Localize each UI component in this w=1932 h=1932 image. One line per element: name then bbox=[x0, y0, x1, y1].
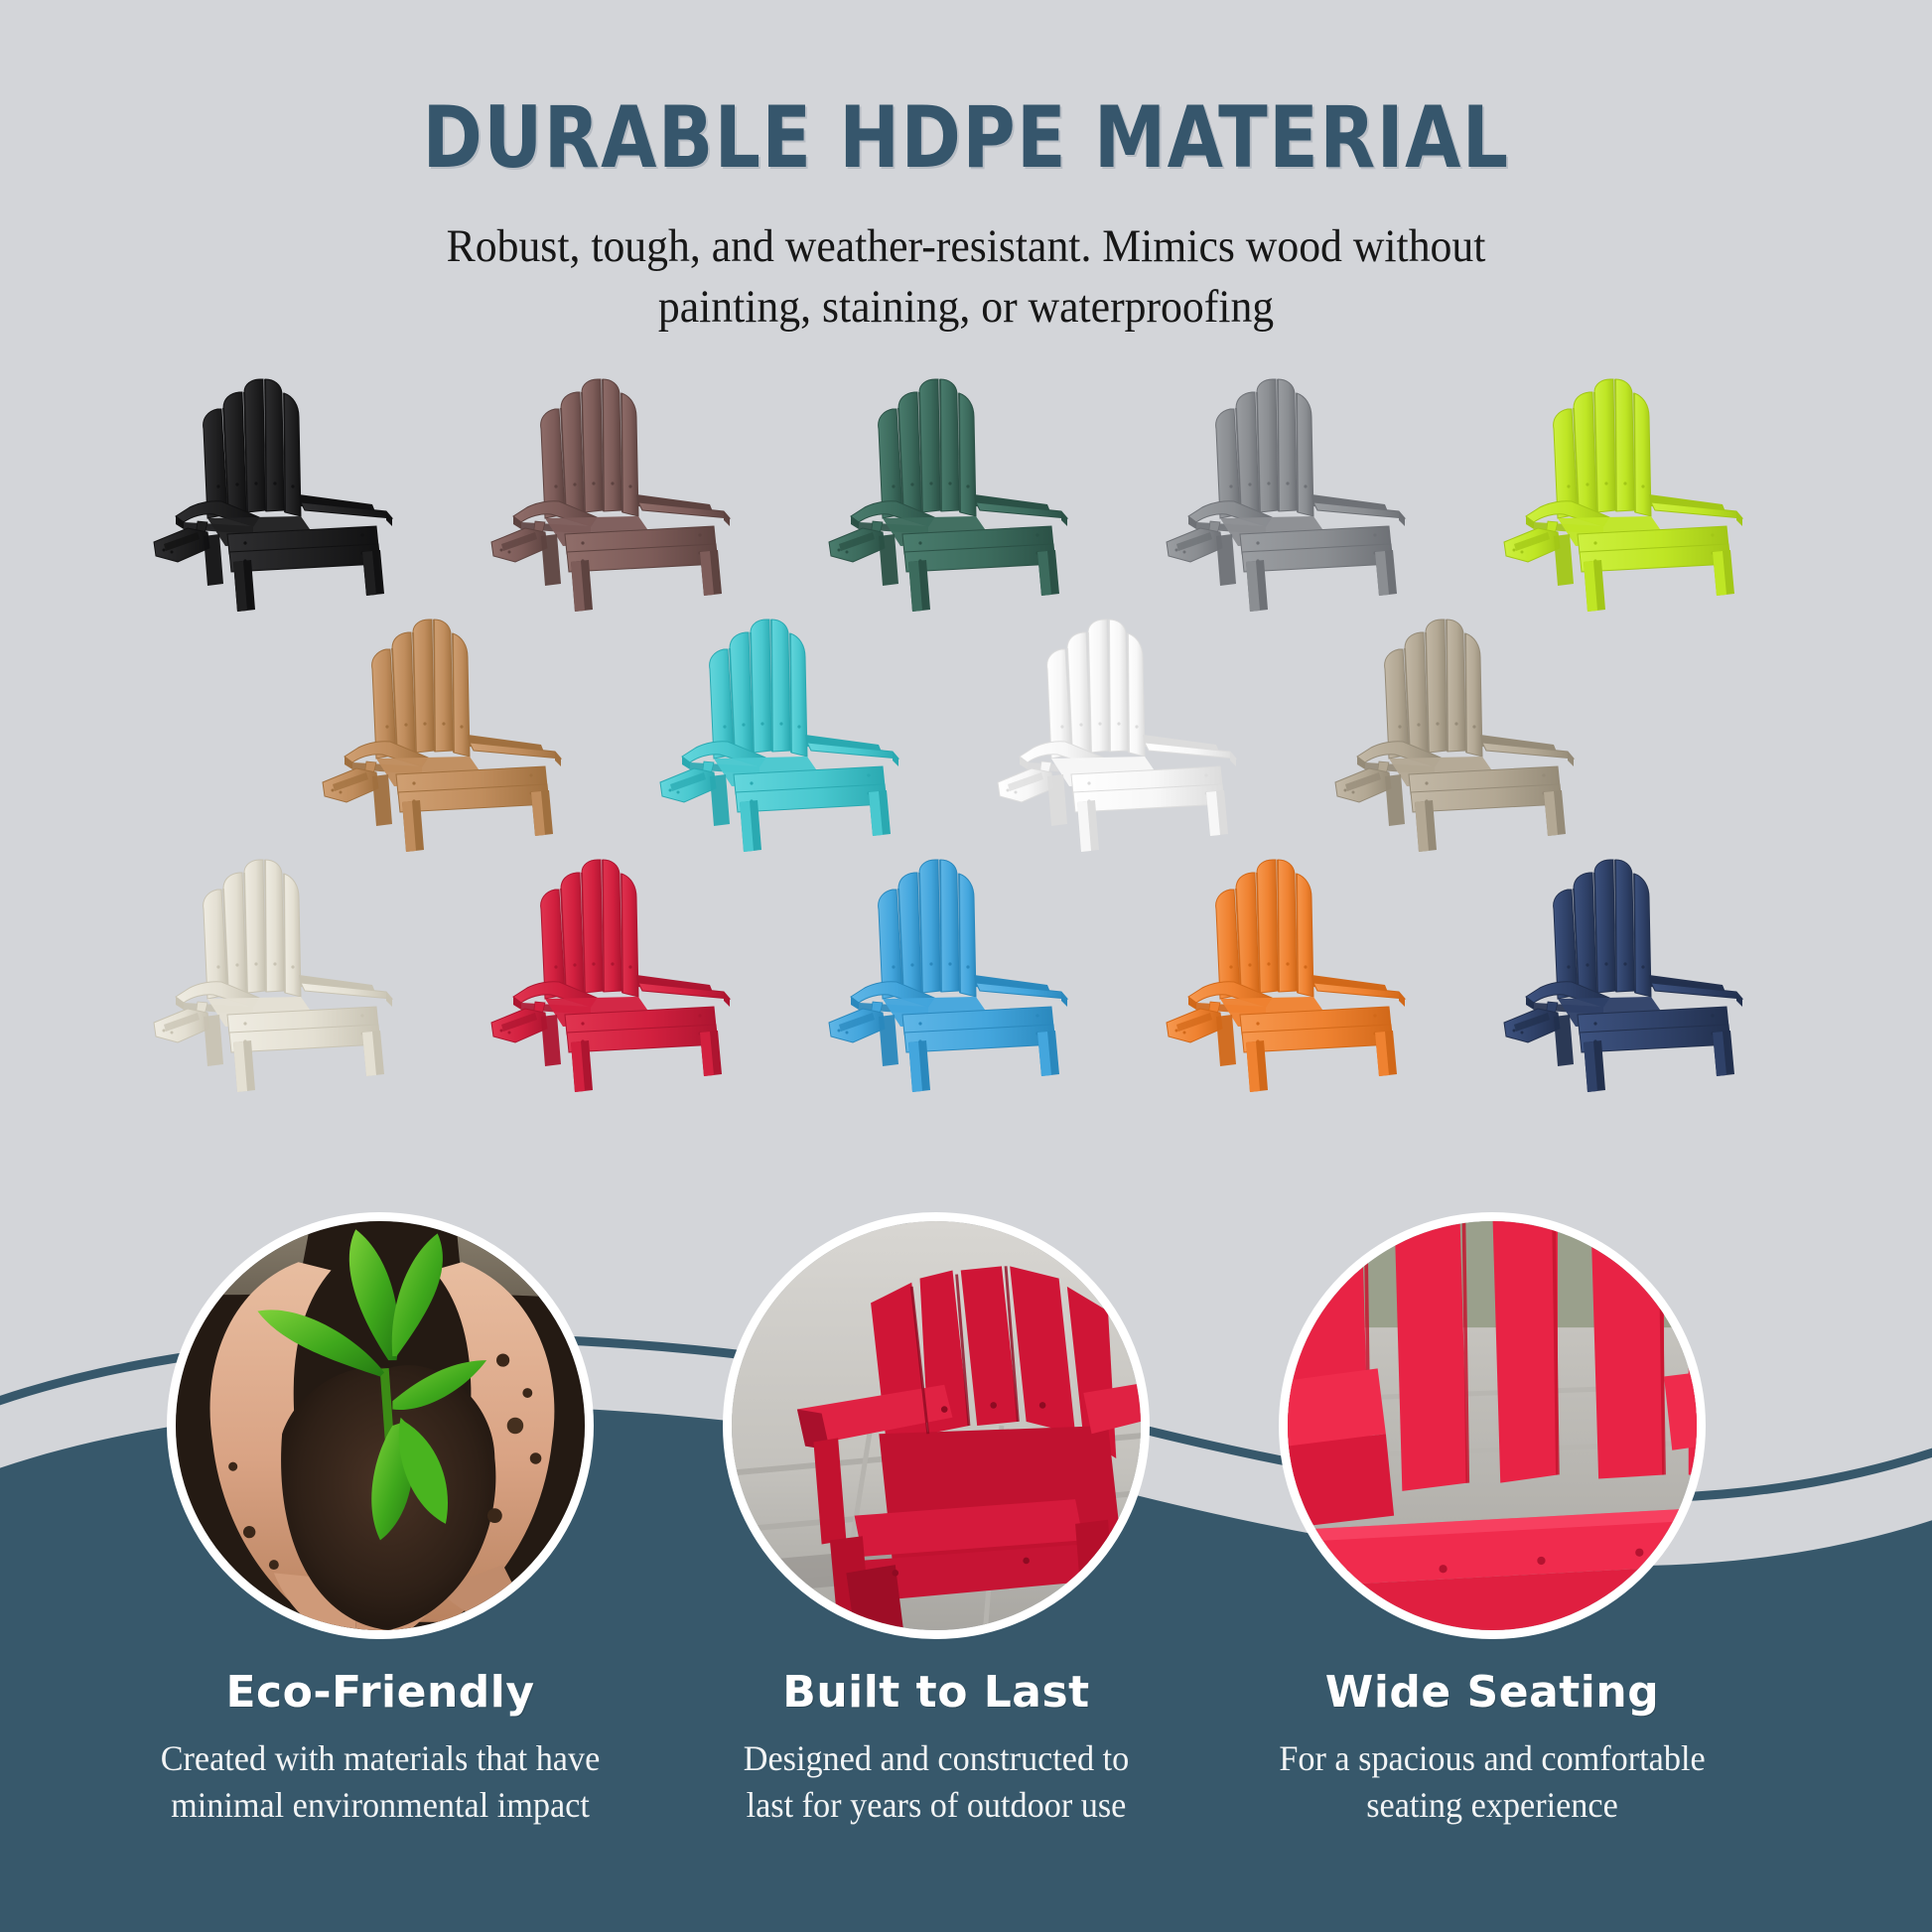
chair-swatch-lime-green[interactable] bbox=[1472, 367, 1810, 616]
chair-graphic bbox=[142, 367, 440, 616]
chair-swatch-dark-green[interactable] bbox=[797, 367, 1135, 616]
chair-swatch-light-blue[interactable] bbox=[797, 848, 1135, 1096]
feature-title: Eco-Friendly bbox=[82, 1667, 678, 1718]
chair-row-1 bbox=[0, 367, 1932, 616]
feature-description: Created with materials that have minimal… bbox=[97, 1735, 663, 1829]
chair-swatch-crimson-red[interactable] bbox=[460, 848, 797, 1096]
feature-desc-line-1: Created with materials that have bbox=[97, 1735, 663, 1782]
chair-row-3 bbox=[0, 848, 1932, 1096]
chair-swatch-gray[interactable] bbox=[1135, 367, 1472, 616]
chair-swatch-teak[interactable] bbox=[291, 608, 628, 856]
chair-swatch-navy-blue[interactable] bbox=[1472, 848, 1810, 1096]
chair-swatch-white[interactable] bbox=[966, 608, 1304, 856]
chair-graphic bbox=[817, 848, 1115, 1096]
chair-graphic bbox=[142, 848, 440, 1096]
feature-description: For a spacious and comfortable seating e… bbox=[1209, 1735, 1775, 1829]
chair-graphic bbox=[1492, 367, 1790, 616]
feature-desc-line-1: Designed and constructed to bbox=[653, 1735, 1219, 1782]
feature-wide-seating: Wide Seating For a spacious and comforta… bbox=[1194, 1212, 1790, 1829]
feature-description: Designed and constructed to last for yea… bbox=[653, 1735, 1219, 1829]
chair-graphic bbox=[986, 608, 1284, 856]
feature-title: Built to Last bbox=[638, 1667, 1234, 1718]
feature-title: Wide Seating bbox=[1194, 1667, 1790, 1718]
feature-image-wide-seating bbox=[1279, 1212, 1706, 1639]
chair-graphic bbox=[1323, 608, 1621, 856]
feature-list: Eco-Friendly Created with materials that… bbox=[0, 1237, 1932, 1932]
page-subtitle: Robust, tough, and weather-resistant. Mi… bbox=[68, 216, 1864, 338]
header: DURABLE HDPE MATERIAL Robust, tough, and… bbox=[0, 95, 1932, 338]
subtitle-line-1: Robust, tough, and weather-resistant. Mi… bbox=[68, 216, 1864, 277]
subtitle-line-2: painting, staining, or waterproofing bbox=[68, 277, 1864, 338]
page-title: DURABLE HDPE MATERIAL bbox=[58, 95, 1873, 181]
chair-graphic bbox=[480, 848, 777, 1096]
red-chair-wide-seat-photo-icon bbox=[1288, 1221, 1697, 1630]
feature-image-built-to-last bbox=[723, 1212, 1150, 1639]
feature-built-to-last: Built to Last Designed and constructed t… bbox=[638, 1212, 1234, 1829]
chair-color-grid bbox=[0, 367, 1932, 1096]
chair-graphic bbox=[1155, 367, 1452, 616]
chair-graphic bbox=[480, 367, 777, 616]
chair-graphic bbox=[817, 367, 1115, 616]
chair-graphic bbox=[1492, 848, 1790, 1096]
hands-seedling-icon bbox=[176, 1221, 585, 1630]
chair-row-2 bbox=[0, 608, 1932, 856]
chair-swatch-orange[interactable] bbox=[1135, 848, 1472, 1096]
feature-eco-friendly: Eco-Friendly Created with materials that… bbox=[82, 1212, 678, 1829]
feature-image-eco-friendly bbox=[167, 1212, 594, 1639]
feature-desc-line-2: minimal environmental impact bbox=[97, 1782, 663, 1829]
chair-swatch-black[interactable] bbox=[122, 367, 460, 616]
chair-swatch-khaki[interactable] bbox=[1304, 608, 1641, 856]
feature-desc-line-1: For a spacious and comfortable bbox=[1209, 1735, 1775, 1782]
chair-swatch-dark-brown[interactable] bbox=[460, 367, 797, 616]
chair-graphic bbox=[311, 608, 609, 856]
feature-desc-line-2: last for years of outdoor use bbox=[653, 1782, 1219, 1829]
infographic-canvas: DURABLE HDPE MATERIAL Robust, tough, and… bbox=[0, 0, 1932, 1932]
chair-graphic bbox=[1155, 848, 1452, 1096]
feature-desc-line-2: seating experience bbox=[1209, 1782, 1775, 1829]
chair-swatch-ivory[interactable] bbox=[122, 848, 460, 1096]
red-chair-patio-photo-icon bbox=[732, 1221, 1141, 1630]
chair-graphic bbox=[648, 608, 946, 856]
chair-swatch-turquoise[interactable] bbox=[628, 608, 966, 856]
